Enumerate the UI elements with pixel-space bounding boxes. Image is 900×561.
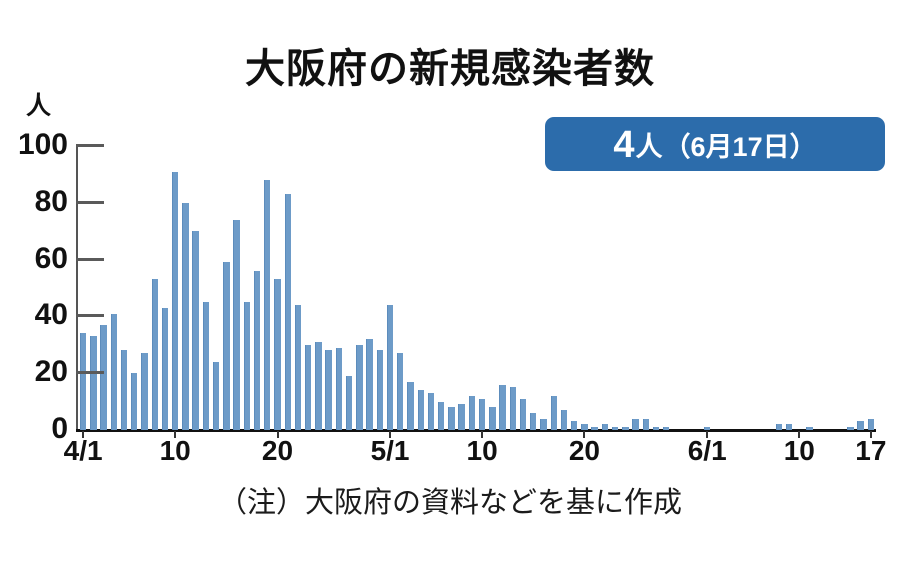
bar: [786, 424, 792, 430]
bar: [111, 314, 117, 430]
bar: [192, 231, 198, 430]
bar: [80, 333, 86, 430]
bar: [203, 302, 209, 430]
y-axis-tick-label: 100: [0, 130, 68, 160]
bar: [285, 194, 291, 430]
infographic-chart-figure: 大阪府の新規感染者数 4人（6月17日） 人 020406080100 4/11…: [0, 0, 900, 561]
bar: [776, 424, 782, 430]
bar: [428, 393, 434, 430]
x-axis-tick-label: 4/1: [64, 437, 103, 465]
y-axis-tick-label: 20: [0, 357, 68, 387]
bar: [602, 424, 608, 430]
x-axis-tick-label: 20: [262, 437, 293, 465]
y-axis-tick-mark: [76, 144, 104, 147]
y-axis-tick-mark: [76, 201, 104, 204]
bar: [571, 421, 577, 430]
bar: [336, 348, 342, 430]
y-axis-tick-mark: [76, 371, 104, 374]
y-axis-tick-label: 80: [0, 187, 68, 217]
y-axis-tick-label: 0: [0, 414, 68, 444]
bar: [469, 396, 475, 430]
y-axis-tick-label: 60: [0, 244, 68, 274]
bar: [315, 342, 321, 430]
bar: [172, 172, 178, 430]
bar: [162, 308, 168, 430]
bar: [121, 350, 127, 430]
bar: [643, 419, 649, 430]
bar: [325, 350, 331, 430]
bar: [397, 353, 403, 430]
bar: [141, 353, 147, 430]
bar: [346, 376, 352, 430]
bar: [653, 427, 659, 430]
bar: [847, 427, 853, 430]
bar: [100, 325, 106, 430]
bar: [387, 305, 393, 430]
bar: [632, 419, 638, 430]
bar: [520, 399, 526, 430]
bar: [244, 302, 250, 430]
x-axis-tick-label: 17: [855, 437, 886, 465]
bar-series: [78, 146, 876, 430]
bar: [448, 407, 454, 430]
bar: [407, 382, 413, 430]
bar: [295, 305, 301, 430]
x-axis-tick-label: 10: [784, 437, 815, 465]
bar: [213, 362, 219, 430]
y-axis-tick-mark: [76, 258, 104, 261]
bar: [857, 421, 863, 430]
bar: [561, 410, 567, 430]
bar: [223, 262, 229, 430]
x-axis-tick-label: 5/1: [371, 437, 410, 465]
y-axis-tick-label: 40: [0, 300, 68, 330]
bar: [591, 427, 597, 430]
x-axis-tick-label: 20: [569, 437, 600, 465]
bar: [131, 373, 137, 430]
bar: [510, 387, 516, 430]
bar: [182, 203, 188, 430]
bar: [377, 350, 383, 430]
x-axis-tick-label: 10: [160, 437, 191, 465]
x-axis-tick-label: 6/1: [688, 437, 727, 465]
bar: [530, 413, 536, 430]
bar: [438, 402, 444, 430]
plot-frame: [76, 145, 876, 430]
bar: [489, 407, 495, 430]
bar: [458, 404, 464, 430]
bar: [418, 390, 424, 430]
x-axis-tick-label: 10: [467, 437, 498, 465]
bar: [581, 424, 587, 430]
bar: [366, 339, 372, 430]
bar: [479, 399, 485, 430]
bar: [551, 396, 557, 430]
bar: [264, 180, 270, 430]
bar: [152, 279, 158, 430]
chart-footnote: （注）大阪府の資料などを基に作成: [0, 479, 900, 521]
bar: [663, 427, 669, 430]
bar: [233, 220, 239, 430]
bar: [90, 336, 96, 430]
bar: [704, 427, 710, 430]
y-axis-tick-mark: [76, 314, 104, 317]
bar: [868, 419, 874, 430]
bar: [622, 427, 628, 430]
y-axis-unit-label: 人: [26, 86, 51, 122]
bar: [356, 345, 362, 430]
bar: [274, 279, 280, 430]
y-axis-tick-labels: 020406080100: [0, 130, 68, 430]
chart-plot-area: 人 020406080100 4/110205/110206/11017: [0, 0, 900, 561]
bar: [499, 385, 505, 430]
bar: [540, 419, 546, 430]
bar: [806, 427, 812, 430]
x-axis-tick-labels: 4/110205/110206/11017: [76, 437, 876, 477]
bar: [612, 427, 618, 430]
bar: [254, 271, 260, 430]
bar: [305, 345, 311, 430]
